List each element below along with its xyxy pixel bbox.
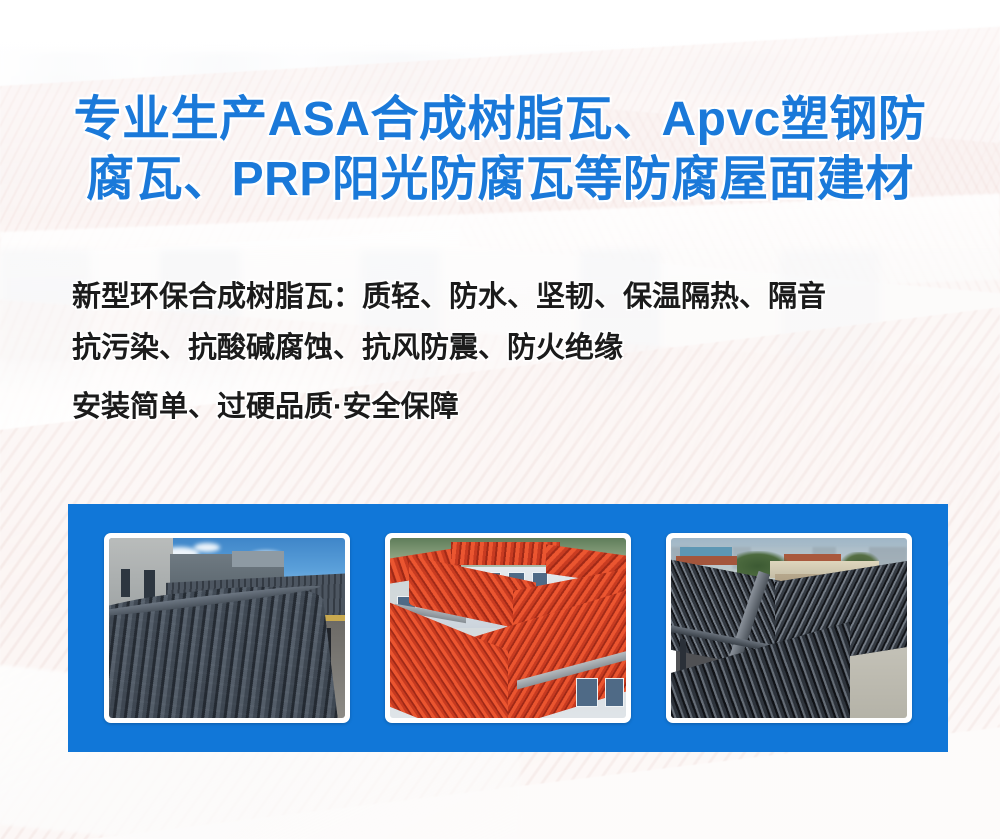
feature-list: 新型环保合成树脂瓦：质轻、防水、坚韧、保温隔热、隔音 抗污染、抗酸碱腐蚀、抗风防… [72, 272, 826, 433]
red-resin-tile-roofs-aerial-photo [390, 538, 626, 718]
headline-line-1: 专业生产ASA合成树脂瓦、Apvc塑钢防 [58, 90, 942, 150]
grey-resin-tile-roof-courtyard-photo [109, 538, 345, 718]
feature-line-3: 安装简单、过硬品质·安全保障 [72, 382, 826, 433]
page-title: 专业生产ASA合成树脂瓦、Apvc塑钢防 腐瓦、PRP阳光防腐瓦等防腐屋面建材 [0, 90, 1000, 210]
feature-line-2: 抗污染、抗酸碱腐蚀、抗风防震、防火绝缘 [72, 323, 826, 374]
gallery-thumbnail-3[interactable] [666, 533, 912, 723]
headline-line-2: 腐瓦、PRP阳光防腐瓦等防腐屋面建材 [58, 150, 942, 210]
feature-line-1: 新型环保合成树脂瓦：质轻、防水、坚韧、保温隔热、隔音 [72, 272, 826, 323]
black-resin-tile-roof-village-photo [671, 538, 907, 718]
photo-gallery-panel [68, 504, 948, 752]
gallery-thumbnail-2[interactable] [385, 533, 631, 723]
product-promo-banner: 专业生产ASA合成树脂瓦、Apvc塑钢防 腐瓦、PRP阳光防腐瓦等防腐屋面建材 … [0, 0, 1000, 839]
gallery-thumbnail-1[interactable] [104, 533, 350, 723]
